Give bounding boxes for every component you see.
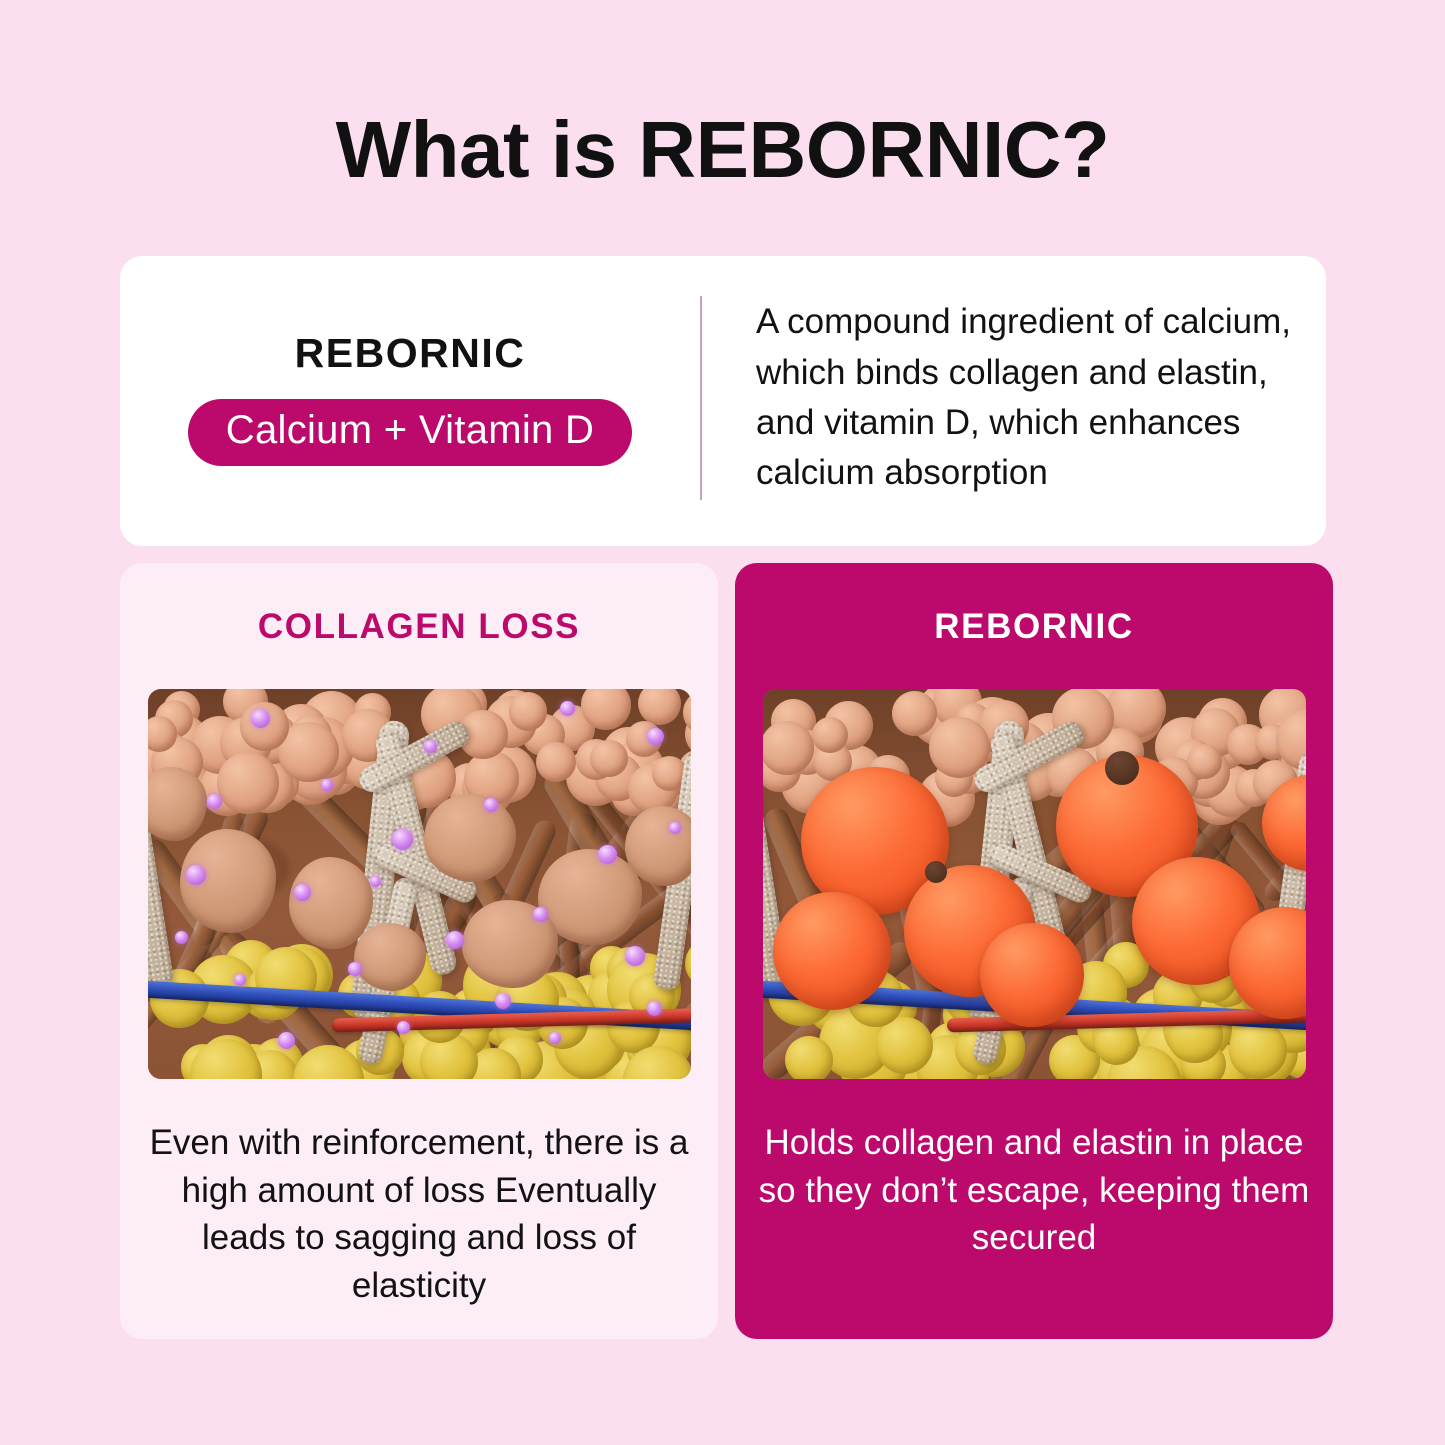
epidermis-cell — [590, 740, 628, 778]
definition-brand-block: REBORNIC Calcium + Vitamin D — [120, 256, 700, 546]
brand-name: REBORNIC — [295, 330, 526, 377]
retained-collagen-sphere — [773, 892, 891, 1010]
epidermis-cell — [509, 692, 547, 730]
calcium-particle — [175, 931, 188, 944]
comparison-caption-rebornic: Holds collagen and elastin in place so t… — [735, 1119, 1333, 1262]
skin-cross-section-collagen-loss-figure — [148, 689, 691, 1079]
comparison-heading-collagen-loss: COLLAGEN LOSS — [120, 607, 718, 647]
fat-cell — [685, 939, 690, 988]
epidermis-cell — [1187, 744, 1222, 779]
fat-cell — [785, 1036, 833, 1079]
calcium-particle — [446, 931, 464, 949]
dark-collagen-nub — [1105, 751, 1139, 785]
retained-collagen-sphere — [980, 923, 1084, 1027]
calcium-particle — [647, 1001, 662, 1016]
loose-collagen-blob — [424, 794, 516, 882]
epidermis-cell — [892, 691, 937, 736]
page-title: What is REBORNIC? — [0, 108, 1445, 192]
ingredient-badge: Calcium + Vitamin D — [188, 399, 632, 466]
epidermis-cell — [812, 717, 848, 753]
dark-collagen-nub — [925, 861, 947, 883]
loose-collagen-blob — [289, 857, 373, 949]
calcium-particle — [647, 728, 664, 745]
calcium-particle — [251, 709, 270, 728]
comparison-card-rebornic: REBORNIC Holds collagen and elastin in p… — [735, 563, 1333, 1339]
calcium-particle — [560, 701, 575, 716]
fat-cell — [1229, 1021, 1287, 1079]
comparison-caption-collagen-loss: Even with reinforcement, there is a high… — [120, 1119, 718, 1309]
comparison-card-collagen-loss: COLLAGEN LOSS Even with reinforcement, t… — [120, 563, 718, 1339]
epidermis-cell — [217, 752, 279, 814]
calcium-particle — [234, 974, 246, 986]
definition-description: A compound ingredient of calcium, which … — [756, 297, 1296, 499]
skin-cross-section-rebornic-figure — [763, 689, 1306, 1079]
calcium-particle — [186, 865, 206, 885]
epidermis-cell — [638, 689, 681, 725]
calcium-particle — [278, 1032, 295, 1049]
definition-description-block: A compound ingredient of calcium, which … — [702, 256, 1326, 546]
calcium-particle — [397, 1021, 410, 1034]
comparison-heading-rebornic: REBORNIC — [735, 607, 1333, 647]
epidermis-cell — [536, 742, 577, 783]
calcium-particle — [321, 779, 333, 791]
definition-card: REBORNIC Calcium + Vitamin D A compound … — [120, 256, 1326, 546]
loose-collagen-blob — [354, 923, 426, 991]
calcium-particle — [669, 822, 681, 834]
epidermis-cell — [581, 689, 631, 730]
calcium-particle — [294, 884, 311, 901]
infographic-page: What is REBORNIC? REBORNIC Calcium + Vit… — [0, 0, 1445, 1445]
